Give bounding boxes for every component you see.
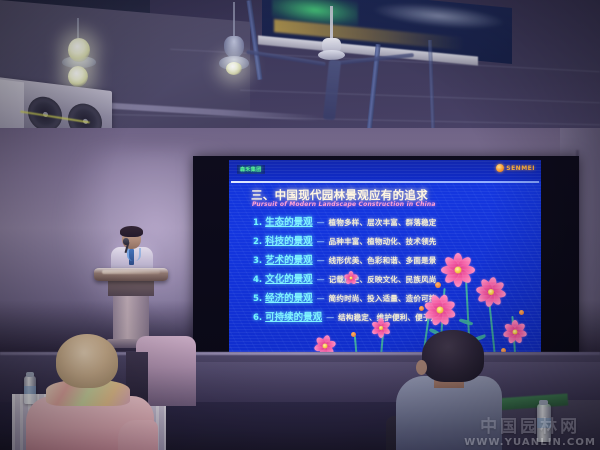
lamp-stem-1	[77, 18, 79, 40]
bottle-label	[537, 418, 551, 428]
audience-right-hair	[422, 330, 484, 382]
pendant-lamp-right	[226, 62, 242, 75]
audience-right-ear	[416, 360, 427, 375]
presenter-lanyard	[127, 248, 141, 261]
bottle-cap	[539, 400, 548, 405]
audience-left-hair	[56, 334, 118, 388]
audience-left-arm	[118, 420, 158, 450]
blower-side-panel	[0, 79, 24, 134]
ceiling-fan-cap	[318, 50, 345, 60]
audience-member-front-left	[22, 334, 154, 450]
microphone-icon	[123, 238, 129, 245]
lamp-shade-2	[224, 36, 244, 58]
podium-top-highlight	[102, 270, 160, 274]
photo-scene: 森禾集团 SENMEI 三、中国现代园林景观应有的追求 Pursuit of M…	[0, 0, 600, 450]
podium-neck	[108, 280, 154, 296]
audience-member-front-right	[400, 330, 520, 450]
pendant-lamp-upper	[68, 38, 90, 62]
pendant-lamp-lower	[68, 66, 88, 87]
ceiling-fan-stem	[330, 6, 333, 40]
banner-white-text-glow	[374, 0, 504, 33]
presenter-hair	[120, 226, 143, 237]
lamp-stem-2	[233, 2, 235, 38]
led-presentation-screen: 森禾集团 SENMEI 三、中国现代园林景观应有的追求 Pursuit of M…	[193, 156, 579, 368]
